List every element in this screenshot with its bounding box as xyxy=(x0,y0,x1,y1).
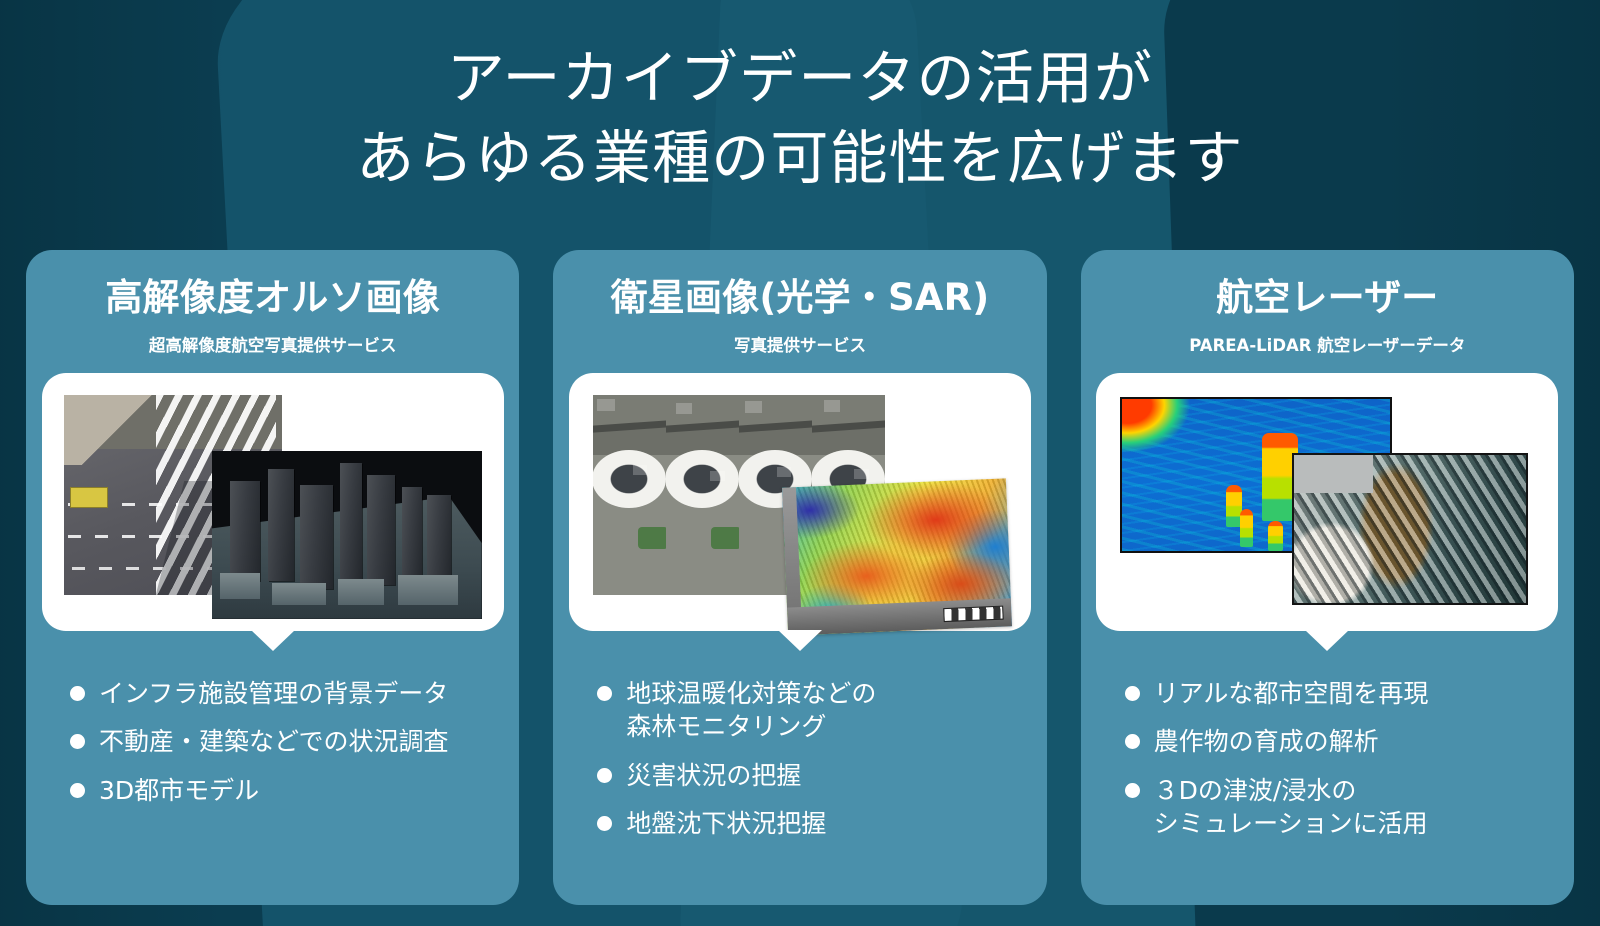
card-title: 高解像度オルソ画像 xyxy=(105,278,440,319)
urban-block xyxy=(777,467,791,477)
city-tower xyxy=(367,475,395,585)
road-line xyxy=(739,420,812,433)
city-low-block xyxy=(220,573,260,599)
insar-elevation-colormap-image xyxy=(782,478,1012,635)
road-line xyxy=(812,420,885,433)
satellite-strip xyxy=(666,395,739,595)
city-low-block xyxy=(398,575,458,605)
card-media xyxy=(569,373,1031,631)
bullet-dot-icon xyxy=(1125,783,1140,798)
slide-headline: アーカイブデータの活用が あらゆる業種の可能性を広げます xyxy=(0,38,1600,198)
urban-block xyxy=(824,400,840,412)
lidar-pillar xyxy=(1240,509,1253,547)
relief-sky-area xyxy=(1294,455,1373,493)
bullet-dot-icon xyxy=(597,768,612,783)
bullet-dot-icon xyxy=(597,686,612,701)
list-item: 地盤沈下状況把握 xyxy=(597,807,1046,841)
list-item: リアルな都市空間を再現 xyxy=(1125,677,1574,711)
card-subtitle: PAREA-LiDAR 航空レーザーデータ xyxy=(1189,332,1465,356)
list-item: インフラ施設管理の背景データ xyxy=(70,677,519,711)
bullet-dot-icon xyxy=(70,783,85,798)
sports-field xyxy=(638,527,666,549)
bullet-dot-icon xyxy=(70,686,85,701)
list-item: 地球温暖化対策などの 森林モニタリング xyxy=(597,677,1046,744)
list-item-label: ３Dの津波/浸水の シミュレーションに活用 xyxy=(1154,774,1428,841)
benefit-list: 地球温暖化対策などの 森林モニタリング 災害状況の把握 地盤沈下状況把握 xyxy=(553,677,1046,841)
benefit-list: リアルな都市空間を再現 農作物の育成の解析 ３Dの津波/浸水の シミュレーション… xyxy=(1081,677,1574,841)
card-subtitle: 写真提供サービス xyxy=(734,332,866,356)
bus-marker xyxy=(70,487,108,508)
sports-field xyxy=(711,527,739,549)
card-media xyxy=(42,373,504,631)
city-low-block xyxy=(272,583,326,605)
media-pointer-arrow xyxy=(251,630,295,651)
road-line xyxy=(593,420,666,433)
list-item: ３Dの津波/浸水の シミュレーションに活用 xyxy=(1125,774,1574,841)
urban-block xyxy=(710,471,725,481)
stadium-shape xyxy=(593,450,666,508)
card-title: 衛星画像(光学・SAR) xyxy=(611,278,990,319)
city-low-block xyxy=(338,579,384,605)
media-pointer-arrow xyxy=(778,630,822,651)
urban-block xyxy=(745,401,762,413)
bullet-dot-icon xyxy=(70,734,85,749)
list-item: 災害状況の把握 xyxy=(597,759,1046,793)
terrain-shaded-relief-image xyxy=(1292,453,1528,605)
card-satellite-image[interactable]: 衛星画像(光学・SAR) 写真提供サービス xyxy=(553,250,1046,905)
list-item-label: 農作物の育成の解析 xyxy=(1154,725,1379,759)
road-line xyxy=(666,420,739,433)
card-subtitle: 超高解像度航空写真提供サービス xyxy=(149,332,397,356)
city-tower xyxy=(300,485,333,589)
list-item-label: 災害状況の把握 xyxy=(626,759,801,793)
card-ortho-image[interactable]: 高解像度オルソ画像 超高解像度航空写真提供サービス xyxy=(26,250,519,905)
card-media xyxy=(1096,373,1558,631)
card-aerial-laser[interactable]: 航空レーザー PAREA-LiDAR 航空レーザーデータ xyxy=(1081,250,1574,905)
bullet-dot-icon xyxy=(1125,734,1140,749)
list-item-label: 地球温暖化対策などの 森林モニタリング xyxy=(626,677,876,744)
list-item-label: 3D都市モデル xyxy=(99,774,259,808)
satellite-strip xyxy=(593,395,666,595)
city-tower xyxy=(268,469,294,581)
urban-block xyxy=(854,469,869,479)
stadium-shape xyxy=(666,450,739,508)
list-item-label: 地盤沈下状況把握 xyxy=(626,807,826,841)
card-title: 航空レーザー xyxy=(1216,278,1438,319)
city-tower xyxy=(230,481,260,581)
list-item-label: リアルな都市空間を再現 xyxy=(1154,677,1429,711)
card-group: 高解像度オルソ画像 超高解像度航空写真提供サービス xyxy=(26,250,1574,905)
list-item-label: インフラ施設管理の背景データ xyxy=(99,677,448,711)
bullet-dot-icon xyxy=(1125,686,1140,701)
urban-block xyxy=(633,465,647,475)
bullet-dot-icon xyxy=(597,816,612,831)
list-item-label: 不動産・建築などでの状況調査 xyxy=(99,725,449,759)
scale-bar xyxy=(943,605,1004,622)
list-item: 農作物の育成の解析 xyxy=(1125,725,1574,759)
media-pointer-arrow xyxy=(1305,630,1349,651)
3d-city-model-image xyxy=(212,451,482,619)
city-tower xyxy=(402,487,422,583)
urban-block xyxy=(597,399,615,411)
urban-block xyxy=(676,403,692,414)
city-tower xyxy=(340,463,362,583)
slide-canvas: アーカイブデータの活用が あらゆる業種の可能性を広げます 高解像度オルソ画像 超… xyxy=(0,0,1600,926)
benefit-list: インフラ施設管理の背景データ 不動産・建築などでの状況調査 3D都市モデル xyxy=(26,677,519,808)
list-item: 3D都市モデル xyxy=(70,774,519,808)
list-item: 不動産・建築などでの状況調査 xyxy=(70,725,519,759)
city-tower xyxy=(427,495,451,583)
lidar-pillar xyxy=(1268,521,1283,551)
